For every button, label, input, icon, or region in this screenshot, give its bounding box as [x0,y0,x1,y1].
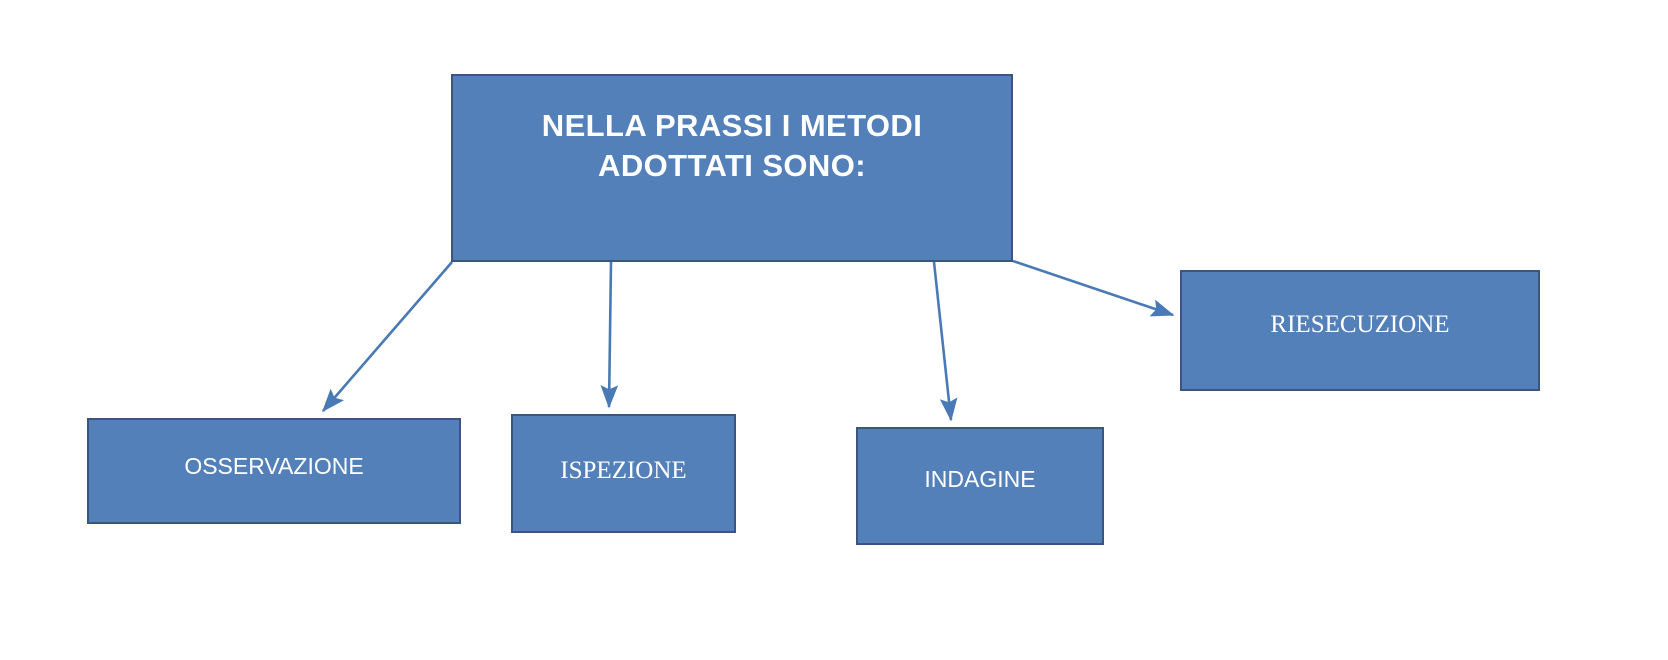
node-riesecuzione-label: RIESECUZIONE [1182,309,1538,341]
node-ispezione-label: ISPEZIONE [513,455,734,487]
node-osservazione-label: OSSERVAZIONE [89,452,459,481]
node-ispezione[interactable]: ISPEZIONE [511,414,736,533]
connector-root-to-osservazione [323,262,452,411]
node-indagine-label: INDAGINE [858,465,1102,494]
node-osservazione[interactable]: OSSERVAZIONE [87,418,461,524]
node-root[interactable]: NELLA PRASSI I METODI ADOTTATI SONO: [451,74,1013,262]
node-riesecuzione[interactable]: RIESECUZIONE [1180,270,1540,391]
connector-root-to-ispezione [609,262,611,407]
node-indagine[interactable]: INDAGINE [856,427,1104,545]
connector-root-to-indagine [934,262,951,420]
node-root-label: NELLA PRASSI I METODI ADOTTATI SONO: [453,106,1011,185]
diagram-canvas: NELLA PRASSI I METODI ADOTTATI SONO: OSS… [0,0,1668,660]
connector-root-to-riesecuzione [1013,261,1173,315]
